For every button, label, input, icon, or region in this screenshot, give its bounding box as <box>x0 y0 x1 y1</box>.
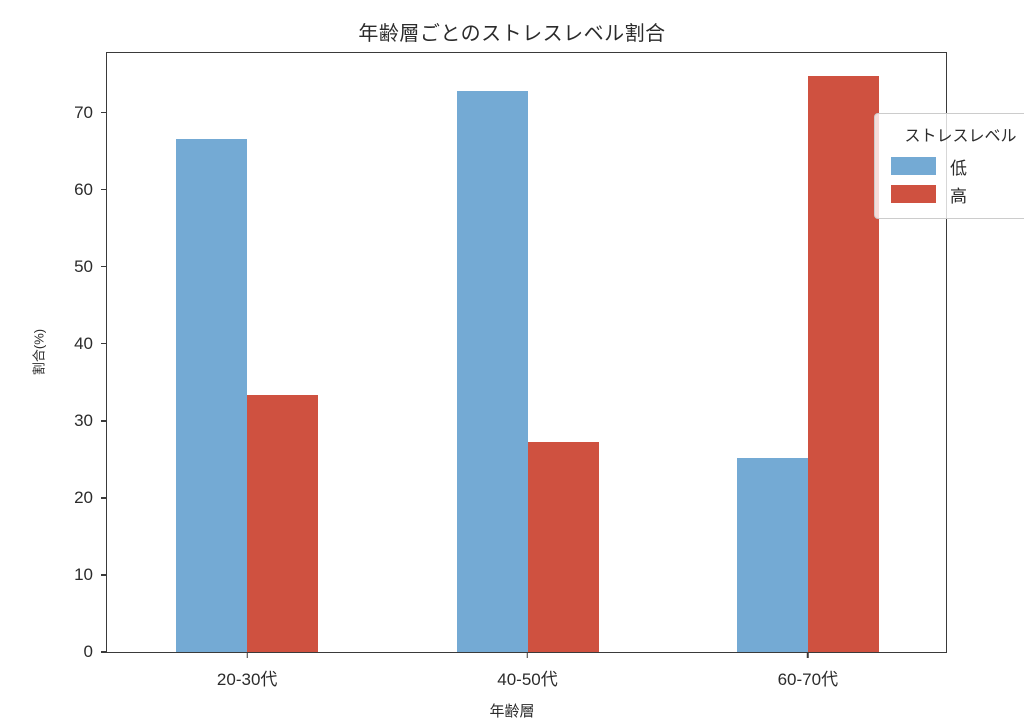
y-axis-tick-mark <box>101 420 107 421</box>
x-axis-tick-mark <box>807 652 808 658</box>
y-axis-tick: 40 <box>74 334 107 354</box>
y-axis-tick-mark <box>101 343 107 344</box>
y-axis-tick-mark <box>101 266 107 267</box>
y-axis-label: 割合(%) <box>29 329 48 375</box>
x-axis-tick: 60-70代 <box>778 652 838 690</box>
legend-label: 高 <box>950 182 967 207</box>
legend-entries: 低高 <box>887 152 1024 208</box>
y-axis-tick-mark <box>101 497 107 498</box>
y-axis-tick-label: 20 <box>74 488 93 508</box>
y-axis-tick: 10 <box>74 565 107 585</box>
bar-low <box>176 139 247 652</box>
legend: ストレスレベル 低高 <box>874 113 1024 219</box>
legend-title: ストレスレベル <box>887 122 1024 146</box>
legend-swatch <box>891 157 936 175</box>
legend-swatch <box>891 185 936 203</box>
plot-area: 010203040506070 20-30代40-50代60-70代 ストレスレ… <box>106 52 947 653</box>
y-axis-tick: 30 <box>74 411 107 431</box>
y-axis-tick-mark <box>101 651 107 652</box>
bar-chart-figure: 年齢層ごとのストレスレベル割合 割合(%) 010203040506070 20… <box>0 0 1024 727</box>
y-axis-tick-label: 0 <box>84 642 93 662</box>
page-title: 年齢層ごとのストレスレベル割合 <box>0 17 1024 46</box>
bar-low <box>457 91 528 652</box>
bar-high <box>808 76 879 652</box>
y-axis-tick-label: 60 <box>74 180 93 200</box>
y-axis-tick: 0 <box>84 642 107 662</box>
legend-label: 低 <box>950 154 967 179</box>
x-axis-tick-label: 40-50代 <box>497 665 557 690</box>
x-axis-tick-mark <box>527 652 528 658</box>
y-axis-tick-mark <box>101 112 107 113</box>
y-axis-tick: 20 <box>74 488 107 508</box>
bar-high <box>247 395 318 652</box>
x-axis-tick: 40-50代 <box>497 652 557 690</box>
y-axis-tick-label: 10 <box>74 565 93 585</box>
x-axis-tick: 20-30代 <box>217 652 277 690</box>
y-axis-tick-label: 50 <box>74 257 93 277</box>
y-axis-tick-mark <box>101 574 107 575</box>
bar-low <box>737 458 808 652</box>
y-axis-tick-label: 70 <box>74 103 93 123</box>
y-axis-tick-mark <box>101 189 107 190</box>
y-axis-tick: 60 <box>74 180 107 200</box>
y-axis-tick-label: 40 <box>74 334 93 354</box>
x-axis-tick-label: 60-70代 <box>778 665 838 690</box>
x-axis-label: 年齢層 <box>0 700 1024 721</box>
y-axis-tick: 50 <box>74 257 107 277</box>
legend-entry: 低 <box>887 152 1024 180</box>
x-axis-tick-label: 20-30代 <box>217 665 277 690</box>
legend-entry: 高 <box>887 180 1024 208</box>
bar-high <box>528 442 599 652</box>
y-axis-tick-label: 30 <box>74 411 93 431</box>
x-axis-tick-mark <box>247 652 248 658</box>
y-axis-tick: 70 <box>74 103 107 123</box>
